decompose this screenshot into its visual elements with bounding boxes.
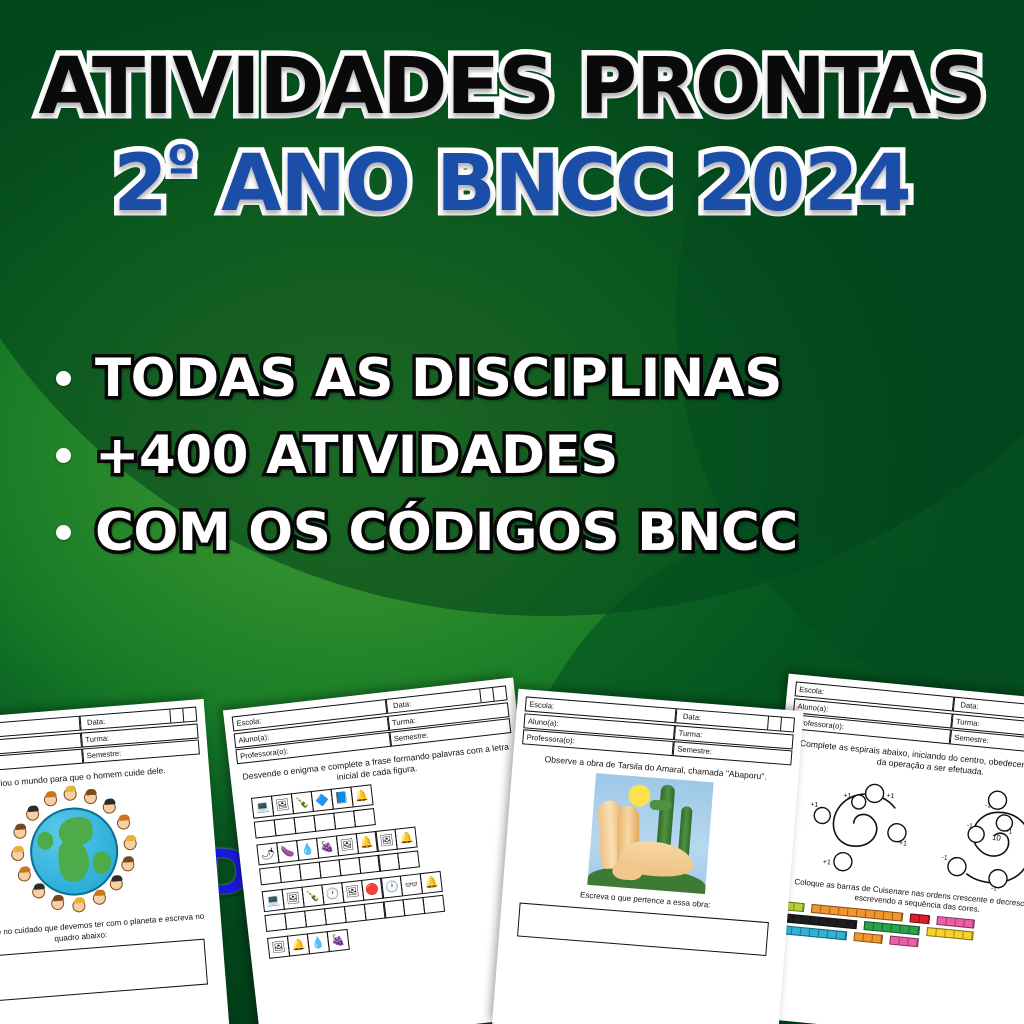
cactus-arm: [649, 799, 672, 811]
feature-bullet-label: +400 ATIVIDADES: [95, 425, 618, 486]
bullet-dot-icon: [56, 525, 71, 540]
date-slots: [764, 716, 794, 731]
worksheet-sheet-ciencias[interactable]: Escola: Aluno(a): Professora(o): Data: T…: [0, 699, 229, 1024]
feature-bullet-item: +400 ATIVIDADES: [56, 425, 976, 486]
spiral-plus-one: +1 +1 +1 +1 +1: [790, 765, 918, 882]
picture-cell: 🔔: [350, 784, 373, 807]
feature-bullet-list: TODAS AS DISCIPLINAS +400 ATIVIDADES COM…: [56, 348, 976, 579]
abaporu-painting-illustration: [587, 773, 713, 894]
headline-line-1: ATIVIDADES PRONTAS: [0, 48, 1024, 128]
worksheet-sheet-arte[interactable]: Escola: Aluno(a): Professora(o): Data: T…: [492, 689, 803, 1024]
rod-pink: [889, 935, 919, 947]
headline-ordinal-mark: º: [167, 136, 195, 196]
headline-year-rest: ANO BNCC 2024: [195, 139, 911, 229]
globe-with-children-illustration: [5, 783, 143, 921]
feature-bullet-label: COM OS CÓDIGOS BNCC: [95, 502, 798, 563]
feature-bullet-label: TODAS AS DISCIPLINAS: [95, 348, 782, 409]
rod-pink: [936, 916, 975, 929]
worksheet-stack: Escola: Aluno(a): Professora(o): Data: T…: [0, 684, 1024, 1024]
headline-year-prefix: 2: [113, 139, 166, 229]
answer-box[interactable]: [0, 939, 208, 1004]
svg-text:+1: +1: [822, 858, 831, 866]
headline-block: ATIVIDADES PRONTAS 2º ANO BNCC 2024: [0, 48, 1024, 224]
rod-orange: [853, 932, 883, 944]
date-slots: [476, 686, 506, 702]
picture-cell: 🔔: [395, 826, 418, 849]
svg-text:+1: +1: [810, 801, 819, 809]
answer-cell: [397, 850, 420, 869]
rod-red: [909, 913, 930, 924]
picture-code-grid: 💻🖼 🍾🔷 📘🔔 🌶🍆 💧🍇 🖼🔔 🖼🔔: [241, 767, 534, 959]
svg-text:-1: -1: [1006, 828, 1013, 836]
svg-text:-1: -1: [941, 854, 948, 862]
answer-cell: [353, 808, 376, 827]
field-data-label: Data:: [84, 715, 106, 730]
svg-text:+1: +1: [886, 792, 895, 800]
answer-cell: [423, 894, 446, 913]
feature-bullet-item: TODAS AS DISCIPLINAS: [56, 348, 976, 409]
svg-text:-1: -1: [967, 822, 974, 830]
date-slots: [166, 708, 196, 723]
spiral-minus-one: 10 -1 -1 -1 -1 -1 -1 -1: [931, 778, 1024, 895]
number-spirals-illustration: +1 +1 +1 +1 +1 10: [778, 763, 1024, 896]
svg-text:10: 10: [992, 832, 1002, 842]
field-data-label: Data:: [957, 698, 979, 713]
svg-text:+1: +1: [843, 792, 852, 800]
sun-icon: [628, 784, 652, 808]
bullet-dot-icon: [56, 448, 71, 463]
feature-bullet-item: COM OS CÓDIGOS BNCC: [56, 502, 976, 563]
picture-cell: 🔔: [420, 870, 443, 893]
rod-yellow: [926, 927, 974, 940]
svg-text:+1: +1: [899, 839, 908, 847]
picture-cell: 🍇: [326, 928, 349, 951]
bullet-dot-icon: [56, 371, 71, 386]
svg-text:-1: -1: [991, 885, 998, 893]
headline-line-2: 2º ANO BNCC 2024: [0, 140, 1024, 225]
svg-text:-1: -1: [985, 802, 992, 810]
field-data-label: Data:: [679, 710, 701, 725]
field-data-label: Data:: [389, 697, 411, 712]
